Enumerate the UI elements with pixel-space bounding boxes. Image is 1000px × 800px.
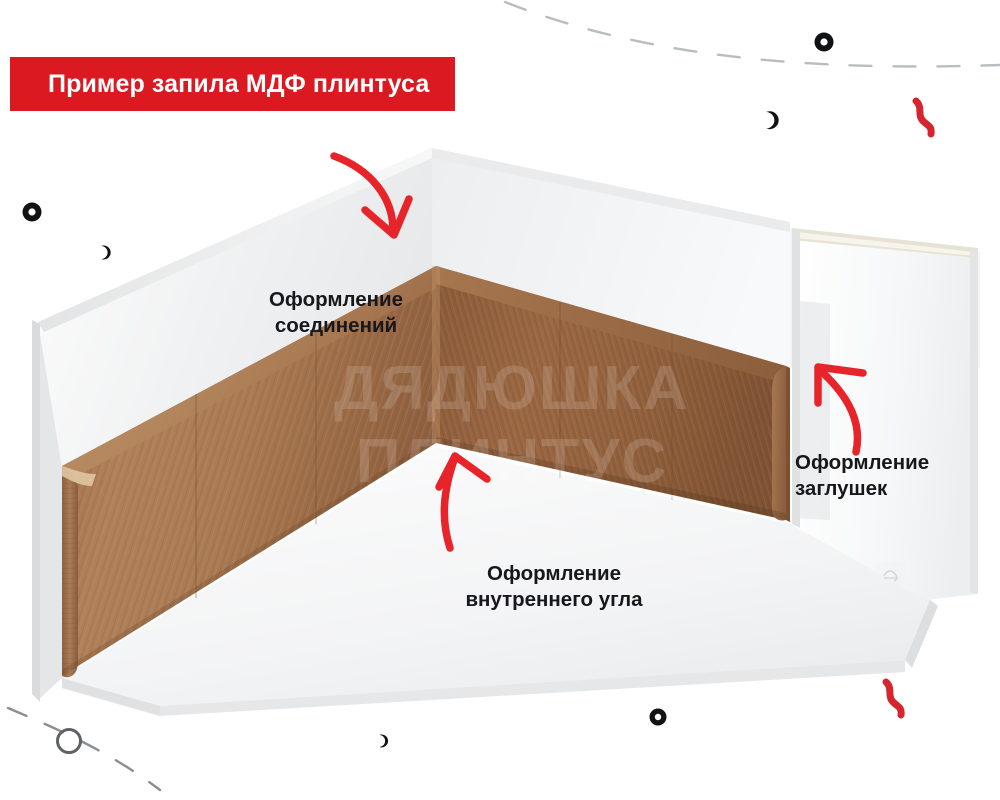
callout-label-end-cap: Оформление заглушек bbox=[795, 450, 975, 502]
skirting-board-corner-illustration bbox=[0, 0, 1000, 800]
maker-mark-icon bbox=[876, 562, 906, 586]
page-title: Пример запила МДФ плинтуса bbox=[48, 72, 429, 97]
illustration-canvas: ДЯДЮШКА ПЛИНТУС Оформление соединений Оф… bbox=[0, 0, 1000, 800]
callout-label-joints: Оформление соединений bbox=[246, 287, 426, 339]
title-banner: Пример запила МДФ плинтуса bbox=[10, 57, 455, 111]
callout-label-inner-corner: Оформление внутреннего угла bbox=[430, 561, 678, 613]
